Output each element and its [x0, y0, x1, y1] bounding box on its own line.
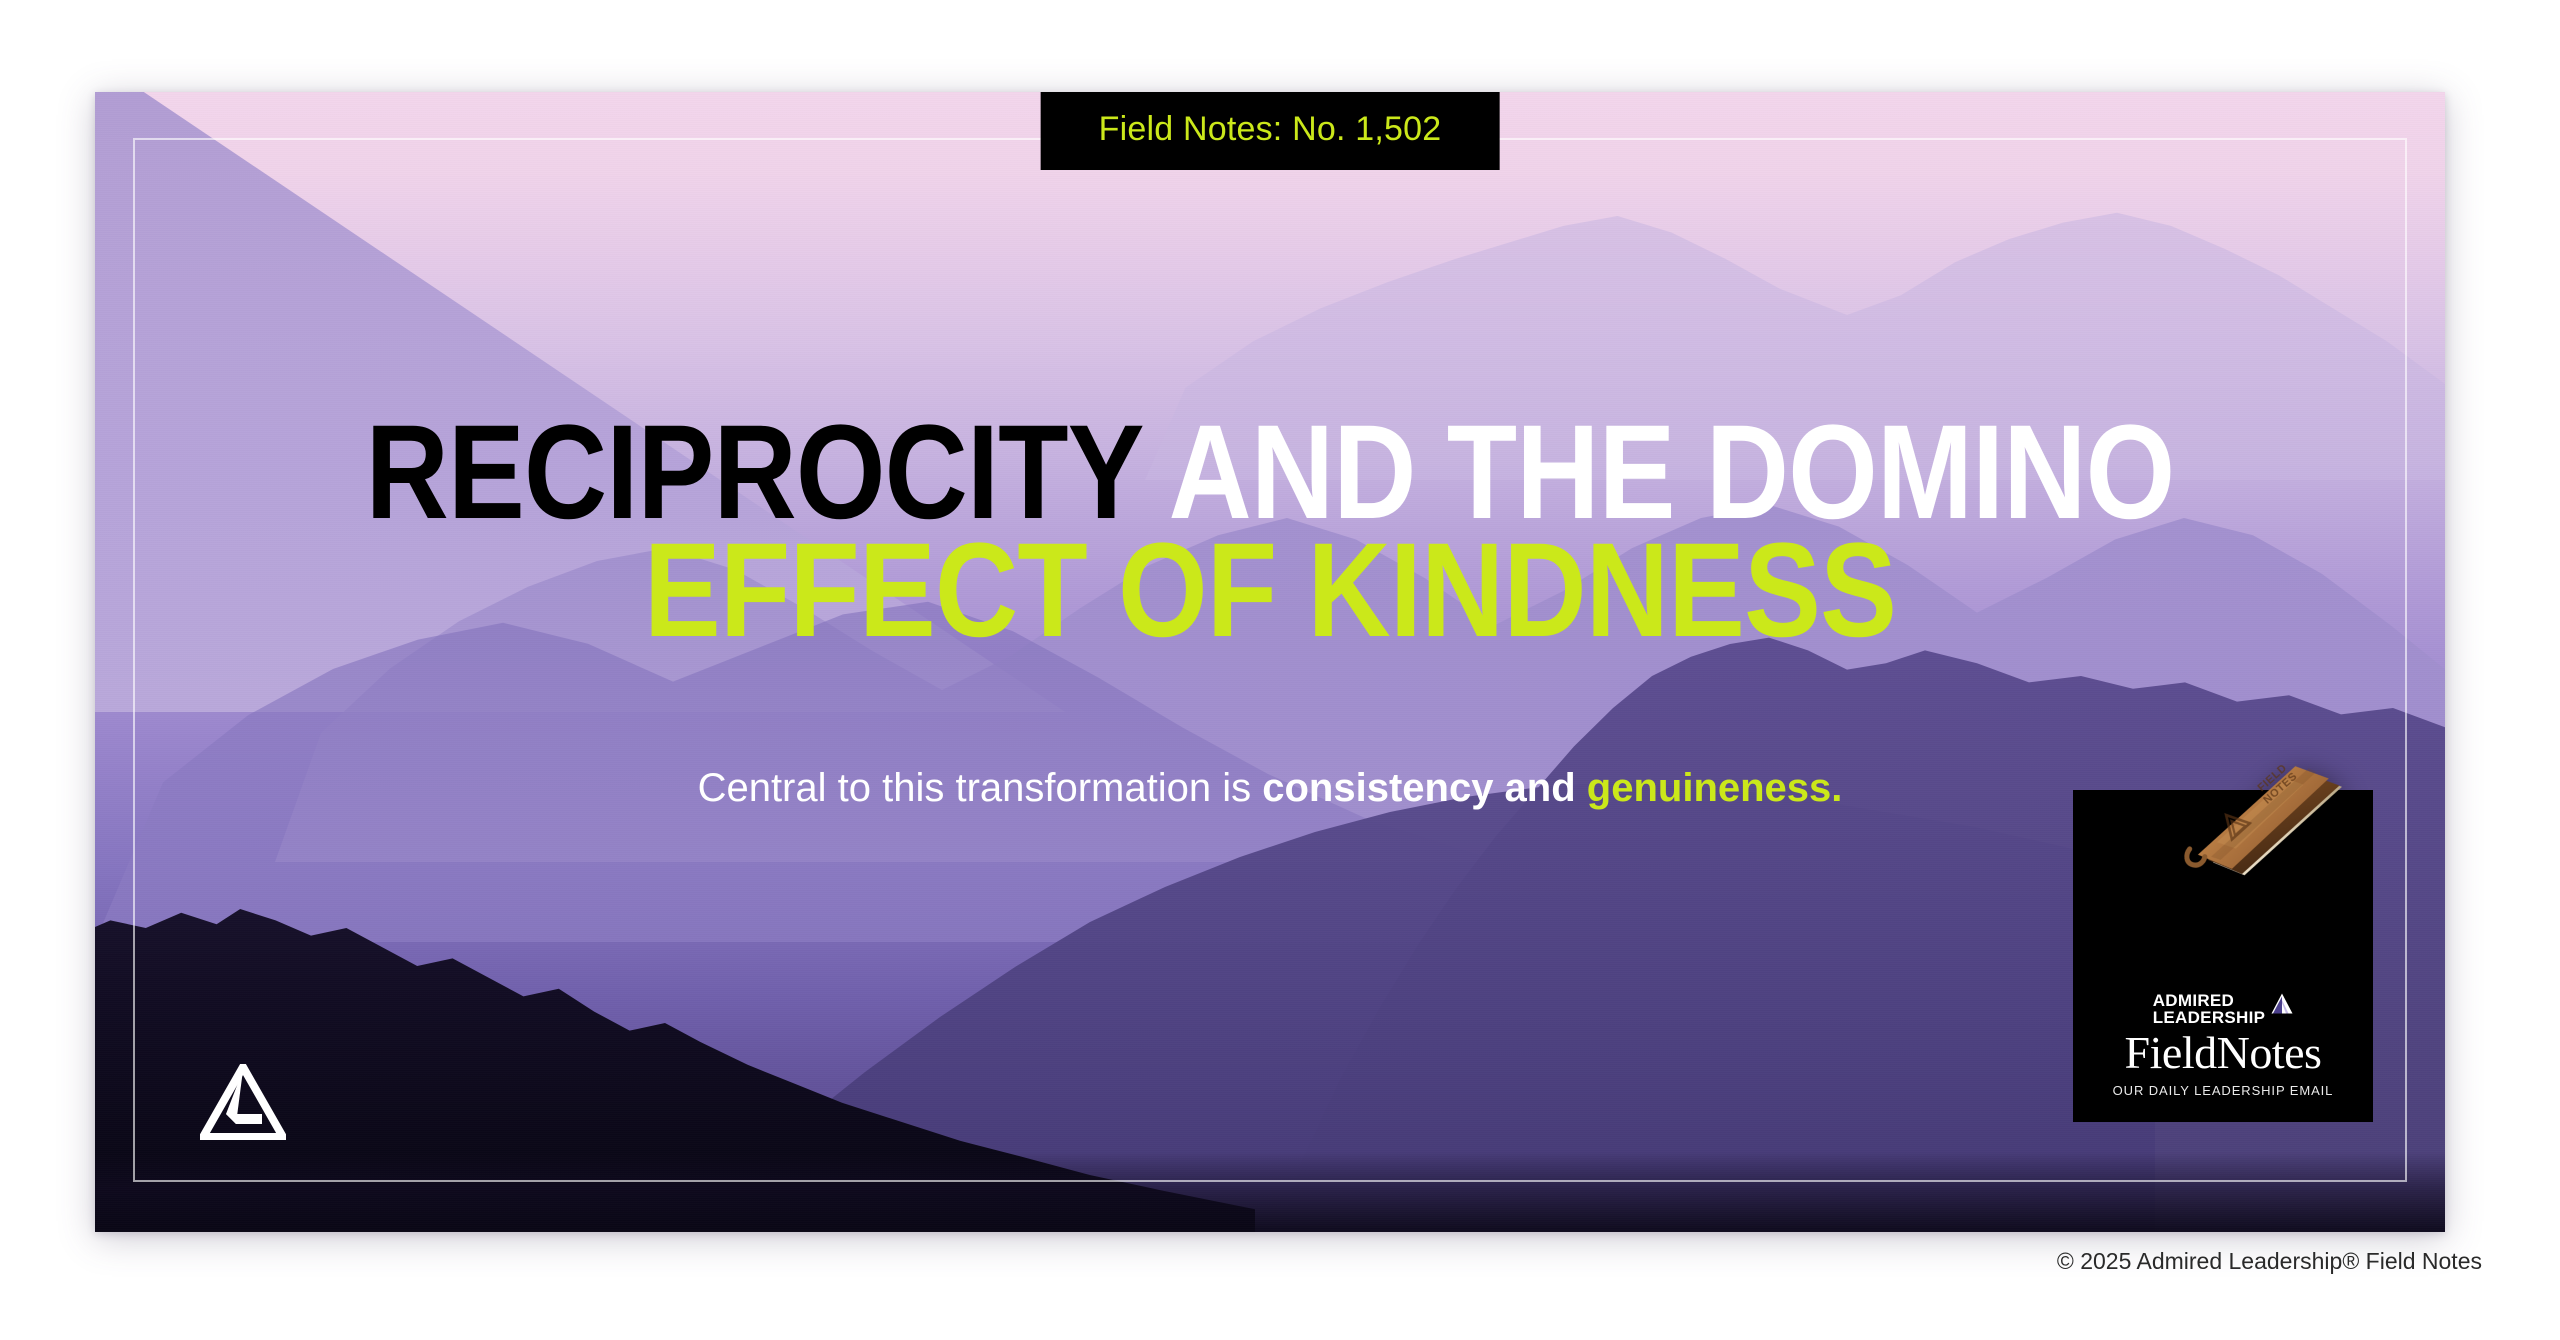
al-triangle-logo-icon — [200, 1064, 286, 1140]
headline-line-2: EFFECT OF KINDNESS — [320, 532, 2221, 650]
promo-brand-line-2: LEADERSHIP — [2153, 1009, 2266, 1026]
page-root: Field Notes: No. 1,502 RECIPROCITY AND T… — [0, 0, 2560, 1340]
promo-brand-line-1: ADMIRED — [2153, 992, 2266, 1009]
bottom-vignette — [95, 1152, 2445, 1232]
headline-segment-effect-of-kindness: EFFECT OF KINDNESS — [644, 516, 1896, 665]
promo-brand-lockup: ADMIRED LEADERSHIP — [2073, 992, 2373, 1026]
headline-container: RECIPROCITY AND THE DOMINO EFFECT OF KIN… — [95, 414, 2445, 650]
al-triangle-logo-icon — [2271, 993, 2293, 1014]
issue-number-label: Field Notes: No. 1,502 — [1099, 112, 1442, 146]
promo-card-content: ADMIRED LEADERSHIP FieldNotes OUR DAILY … — [2073, 992, 2373, 1098]
footer-copyright: © 2025 Admired Leadership® Field Notes — [2057, 1248, 2482, 1275]
subtitle-lead: Central to this transformation is — [698, 766, 1263, 810]
promo-card-tagline: OUR DAILY LEADERSHIP EMAIL — [2073, 1083, 2373, 1098]
subtitle-strong: consistency and — [1262, 766, 1575, 810]
page-title: RECIPROCITY AND THE DOMINO EFFECT OF KIN… — [320, 414, 2221, 650]
subtitle-accent: genuineness. — [1576, 766, 1843, 810]
headline-line-1: RECIPROCITY AND THE DOMINO — [320, 414, 2221, 532]
promo-card-title: FieldNotes — [2073, 1030, 2373, 1076]
issue-number-badge: Field Notes: No. 1,502 — [1041, 92, 1500, 170]
hero-banner: Field Notes: No. 1,502 RECIPROCITY AND T… — [95, 92, 2445, 1232]
promo-brand-name: ADMIRED LEADERSHIP — [2153, 992, 2266, 1026]
